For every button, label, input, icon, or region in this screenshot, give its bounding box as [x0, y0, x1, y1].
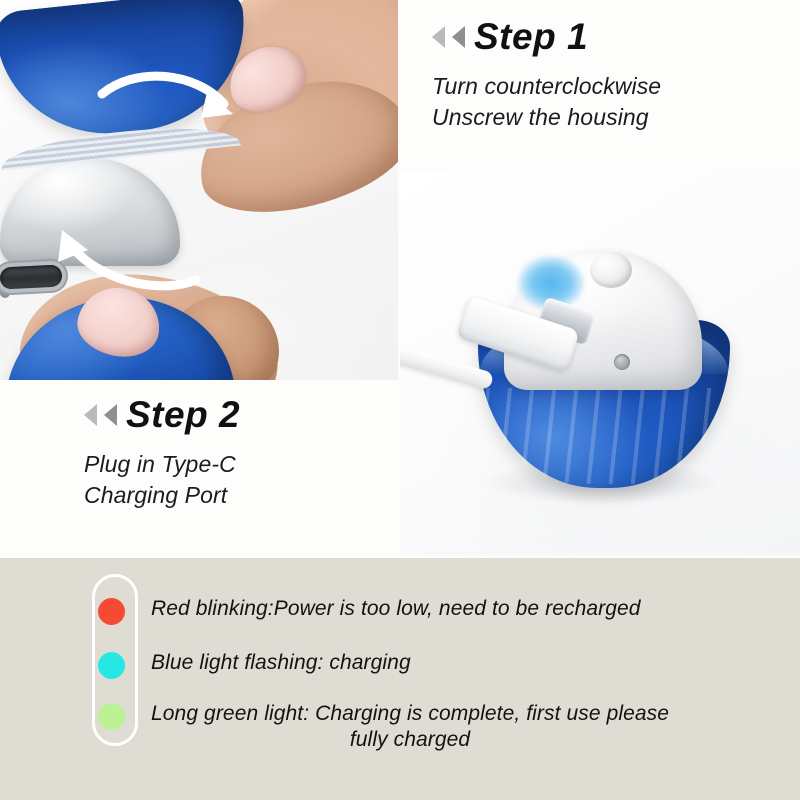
- legend-text-red: Red blinking:Power is too low, need to b…: [151, 596, 641, 622]
- step-1-block: Step 1 Turn counterclockwise Unscrew the…: [432, 18, 782, 132]
- left-triangle-icon-inner: [452, 26, 465, 48]
- step-2-description: Plug in Type-C Charging Port: [84, 449, 404, 510]
- legend-rows: Red blinking:Power is too low, need to b…: [0, 558, 800, 800]
- left-triangle-icon-inner: [104, 404, 117, 426]
- inner-module: [0, 158, 180, 266]
- left-triangle-icon-outer: [432, 26, 445, 48]
- legend-item-cyan: Blue light flashing: charging: [98, 650, 411, 679]
- status-dot-cyan: [98, 652, 125, 679]
- photo-charging: [400, 172, 800, 555]
- step-1-heading: Step 1: [432, 18, 782, 55]
- instruction-page: Step 1 Turn counterclockwise Unscrew the…: [0, 0, 800, 800]
- legend-text-cyan: Blue light flashing: charging: [151, 650, 411, 676]
- legend-item-red: Red blinking:Power is too low, need to b…: [98, 596, 641, 625]
- module-screw: [0, 288, 10, 298]
- step-2-title: Step 2: [126, 396, 240, 433]
- status-dot-green: [98, 703, 125, 730]
- module-screw: [614, 354, 630, 370]
- step-2-heading: Step 2: [84, 396, 404, 433]
- step-1-description: Turn counterclockwise Unscrew the housin…: [432, 71, 782, 132]
- left-triangle-icon-outer: [84, 404, 97, 426]
- step-2-block: Step 2 Plug in Type-C Charging Port: [84, 396, 404, 510]
- module-nub: [590, 252, 632, 288]
- step-1-title: Step 1: [474, 18, 588, 55]
- type-c-port: [0, 264, 63, 289]
- photo-open-housing: [0, 0, 398, 380]
- status-dot-red: [98, 598, 125, 625]
- led-status-legend-panel: Red blinking:Power is too low, need to b…: [0, 558, 800, 800]
- legend-item-green: Long green light: Charging is complete, …: [98, 701, 669, 754]
- legend-text-green: Long green light: Charging is complete, …: [151, 701, 669, 754]
